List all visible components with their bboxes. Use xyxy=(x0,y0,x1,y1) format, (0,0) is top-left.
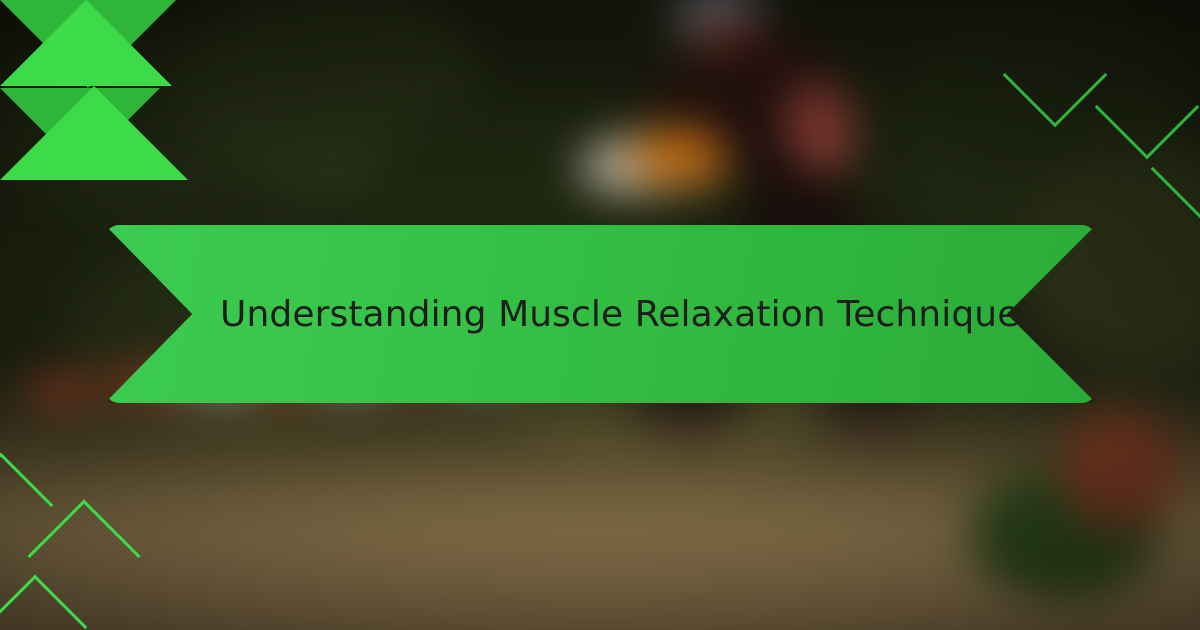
title-ribbon-banner: Understanding Muscle Relaxation Techniqu… xyxy=(105,225,1096,403)
page-title: Understanding Muscle Relaxation Techniqu… xyxy=(220,292,1038,337)
triangle-up-icon xyxy=(0,86,188,180)
triangle-up-icon xyxy=(0,0,172,86)
share-card: Understanding Muscle Relaxation Techniqu… xyxy=(0,0,1200,630)
